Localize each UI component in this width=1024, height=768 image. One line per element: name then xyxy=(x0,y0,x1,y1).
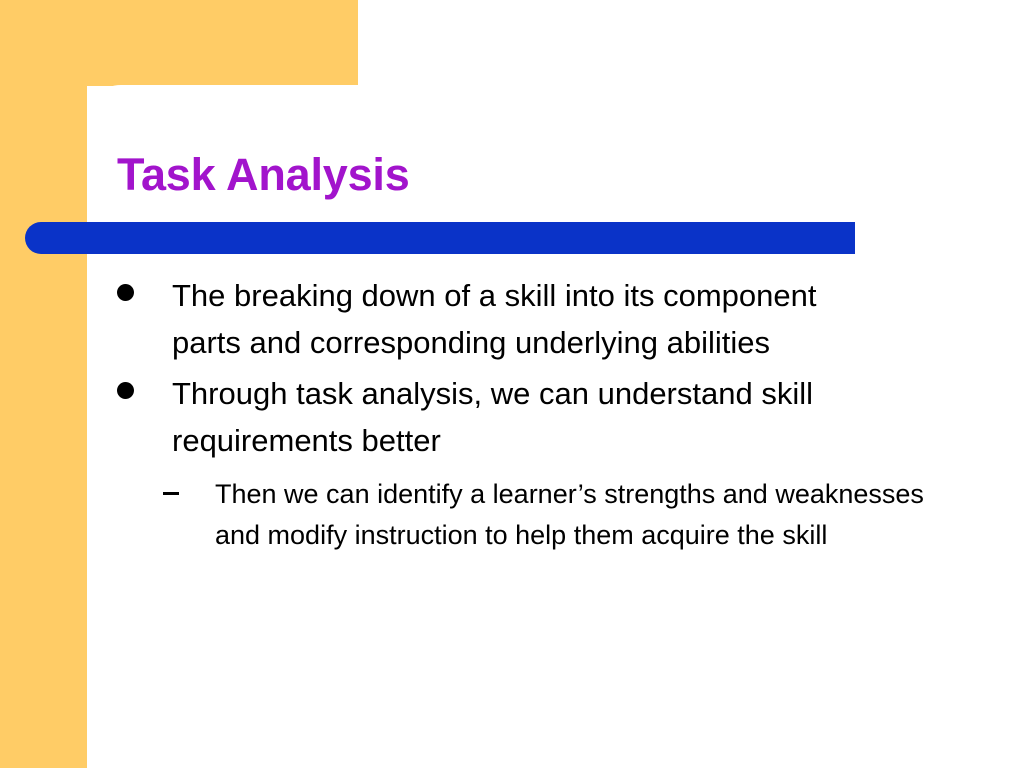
title-accent-bar xyxy=(25,222,855,254)
list-item-label: Through task analysis, we can understand… xyxy=(172,370,934,464)
list-item-label: The breaking down of a skill into its co… xyxy=(172,272,820,366)
slide-body: The breaking down of a skill into its co… xyxy=(0,272,1024,556)
list-item: Through task analysis, we can understand… xyxy=(0,370,1024,464)
disc-bullet-icon xyxy=(117,284,134,301)
en-dash-bullet-icon xyxy=(163,492,179,495)
sub-list-item: Then we can identify a learner’s strengt… xyxy=(0,474,1024,556)
disc-bullet-icon xyxy=(117,382,134,399)
sub-list-item-label: Then we can identify a learner’s strengt… xyxy=(215,474,950,556)
slide-canvas: Task Analysis The breaking down of a ski… xyxy=(0,0,1024,768)
page-title: Task Analysis xyxy=(117,147,877,203)
list-item: The breaking down of a skill into its co… xyxy=(0,272,1024,366)
